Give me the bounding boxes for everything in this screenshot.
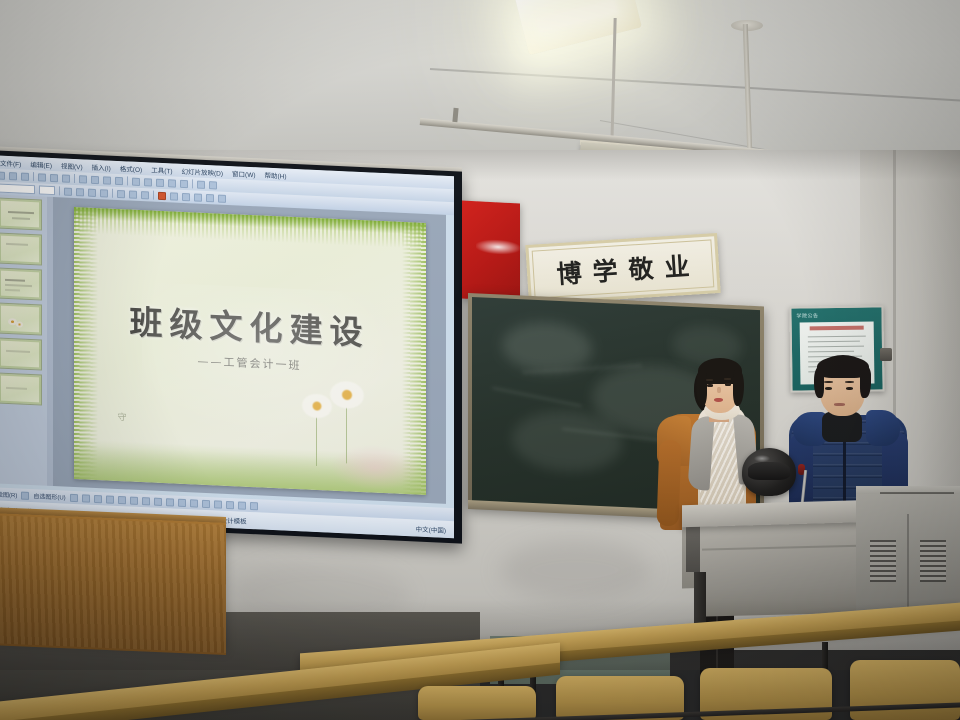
rectangle-icon[interactable]	[94, 494, 102, 502]
woman-eyebrow-left	[706, 379, 713, 381]
menu-item-file[interactable]: 文件(F)	[0, 157, 21, 168]
slide-border-top-wash	[74, 206, 426, 234]
man-eye-right	[846, 387, 853, 390]
woman-hair-side-left	[696, 370, 707, 406]
copy-icon[interactable]	[91, 175, 99, 183]
wall-smudge	[500, 540, 650, 600]
redo-icon[interactable]	[144, 178, 152, 186]
insert-table-icon[interactable]	[156, 178, 164, 186]
wall-mounted-hook	[880, 348, 892, 361]
banner-char-1: 博	[555, 254, 582, 291]
woman-eye-right	[725, 383, 731, 386]
toolbar-separator	[112, 189, 113, 198]
man-hood-right	[866, 410, 900, 446]
zoom-icon[interactable]	[197, 180, 205, 188]
paste-icon[interactable]	[103, 176, 111, 184]
font-color-icon[interactable]	[202, 499, 210, 507]
open-folder-icon[interactable]	[9, 172, 17, 180]
shadow-style-icon[interactable]	[238, 501, 246, 509]
wordart-icon[interactable]	[130, 496, 138, 504]
toolbar-separator	[127, 176, 128, 185]
insert-chart-icon[interactable]	[168, 179, 176, 187]
textbox-icon[interactable]	[118, 495, 126, 503]
woman-nose	[717, 387, 721, 393]
woman-eyebrow-right	[724, 378, 731, 380]
wood-grain-texture	[0, 515, 226, 653]
calligraphy-banner: 博 学 敬 业	[525, 233, 720, 305]
slide-thumbnail[interactable]	[0, 268, 42, 301]
slide-border-left	[74, 206, 98, 479]
slide-title-text[interactable]: 班级文化建设	[74, 292, 426, 356]
italic-icon[interactable]	[76, 188, 84, 196]
numbering-icon[interactable]	[182, 192, 190, 200]
toolbar-separator	[33, 172, 34, 181]
toolbar-separator	[192, 179, 193, 188]
dash-style-icon[interactable]	[226, 500, 234, 508]
font-name-select[interactable]	[0, 183, 35, 194]
daisy-flower-icon	[302, 393, 332, 418]
slide-thumbnail[interactable]	[0, 373, 42, 406]
save-icon[interactable]	[21, 172, 29, 180]
projected-desktop[interactable]: 文件(F) 编辑(E) 视图(V) 插入(I) 格式(O) 工具(T) 幻灯片放…	[0, 155, 454, 538]
menu-item-insert[interactable]: 插入(I)	[92, 161, 111, 172]
student-chair	[418, 686, 536, 720]
align-center-icon[interactable]	[129, 190, 137, 198]
undo-icon[interactable]	[132, 177, 140, 185]
slide-thumbnail-pane[interactable]	[0, 194, 47, 485]
man-mouth	[834, 403, 845, 406]
arrow-icon[interactable]	[82, 494, 90, 502]
oval-icon[interactable]	[106, 495, 114, 503]
banner-char-3: 敬	[627, 249, 654, 286]
font-color-icon[interactable]	[158, 191, 166, 199]
cut-icon[interactable]	[79, 175, 87, 183]
cabinet-vent-left	[870, 540, 896, 582]
red-panel-glare	[476, 239, 520, 255]
man-hair-side-left	[814, 368, 824, 398]
spellcheck-icon[interactable]	[62, 174, 70, 182]
woman-left-arm	[657, 440, 682, 527]
help-icon[interactable]	[209, 181, 217, 189]
slide-watermark-text: 守	[118, 409, 127, 422]
slide-pink-haze	[330, 442, 420, 492]
classroom-scene: 文件(F) 编辑(E) 视图(V) 插入(I) 格式(O) 工具(T) 幻灯片放…	[0, 0, 960, 720]
line-style-icon[interactable]	[214, 500, 222, 508]
hyperlink-icon[interactable]	[180, 179, 188, 187]
line-color-icon[interactable]	[190, 499, 198, 507]
menu-item-window[interactable]: 窗口(W)	[232, 168, 255, 179]
menu-item-view[interactable]: 视图(V)	[61, 160, 83, 171]
woman-mouth	[714, 398, 723, 402]
menu-item-help[interactable]: 帮助(H)	[265, 169, 287, 180]
toolbar-separator	[74, 174, 75, 183]
picture-icon[interactable]	[166, 498, 174, 506]
format-painter-icon[interactable]	[115, 176, 123, 184]
line-icon[interactable]	[70, 493, 78, 501]
shadow-icon[interactable]	[100, 189, 108, 197]
toolbar-separator	[59, 186, 60, 195]
align-left-icon[interactable]	[117, 189, 125, 197]
notice-heading-bar	[810, 326, 864, 331]
3d-style-icon[interactable]	[250, 501, 258, 509]
clipart-icon[interactable]	[154, 497, 162, 505]
underline-icon[interactable]	[88, 188, 96, 196]
man-eyebrow-left	[824, 381, 833, 383]
man-hair-side-right	[860, 366, 871, 398]
new-file-icon[interactable]	[0, 171, 5, 179]
slide-editing-area[interactable]: 守 班级文化建设 ——工管会计一班	[53, 197, 446, 504]
projection-screen-frame: 文件(F) 编辑(E) 视图(V) 插入(I) 格式(O) 工具(T) 幻灯片放…	[0, 150, 462, 544]
menu-item-edit[interactable]: 编辑(E)	[30, 159, 52, 170]
menu-item-slideshow[interactable]: 幻灯片放映(D)	[182, 165, 224, 177]
slide-thumbnail[interactable]	[0, 233, 42, 266]
new-slide-icon[interactable]	[206, 193, 214, 201]
man-eye-left	[825, 387, 832, 390]
helmet-highlight	[754, 455, 770, 462]
banner-char-2: 学	[591, 251, 618, 288]
banner-char-4: 业	[663, 247, 690, 284]
daisy-flower-icon	[330, 380, 364, 409]
align-right-icon[interactable]	[141, 191, 149, 199]
student-chair	[850, 660, 960, 720]
select-arrow-icon[interactable]	[21, 491, 29, 499]
increase-indent-icon[interactable]	[194, 193, 202, 201]
status-language: 中文(中国)	[416, 523, 446, 534]
print-icon[interactable]	[38, 173, 46, 181]
font-size-select[interactable]	[39, 185, 55, 195]
menu-item-format[interactable]: 格式(O)	[120, 163, 142, 174]
helmet-visor	[748, 462, 790, 480]
notice-logo-text: 学院公告	[796, 312, 818, 319]
bullets-icon[interactable]	[170, 192, 178, 200]
fill-color-icon[interactable]	[178, 498, 186, 506]
slide-thumbnail[interactable]	[0, 303, 42, 336]
cabinet-vent-right	[920, 540, 946, 582]
diagram-icon[interactable]	[142, 497, 150, 505]
bold-icon[interactable]	[64, 187, 72, 195]
toolbar-separator	[153, 191, 154, 200]
slide-thumbnail[interactable]	[0, 198, 42, 231]
man-eyebrow-right	[845, 381, 854, 383]
print-preview-icon[interactable]	[50, 173, 58, 181]
drawing-menu-label[interactable]: 绘图(R)	[0, 489, 17, 499]
woman-eye-left	[707, 384, 713, 387]
design-icon[interactable]	[218, 194, 226, 202]
menu-item-tools[interactable]: 工具(T)	[151, 164, 172, 175]
man-inner-shirt	[822, 412, 862, 442]
current-slide[interactable]: 守 班级文化建设 ——工管会计一班	[74, 206, 426, 494]
slide-thumbnail[interactable]	[0, 338, 42, 371]
autoshapes-label[interactable]: 自选图形(U)	[33, 491, 65, 501]
